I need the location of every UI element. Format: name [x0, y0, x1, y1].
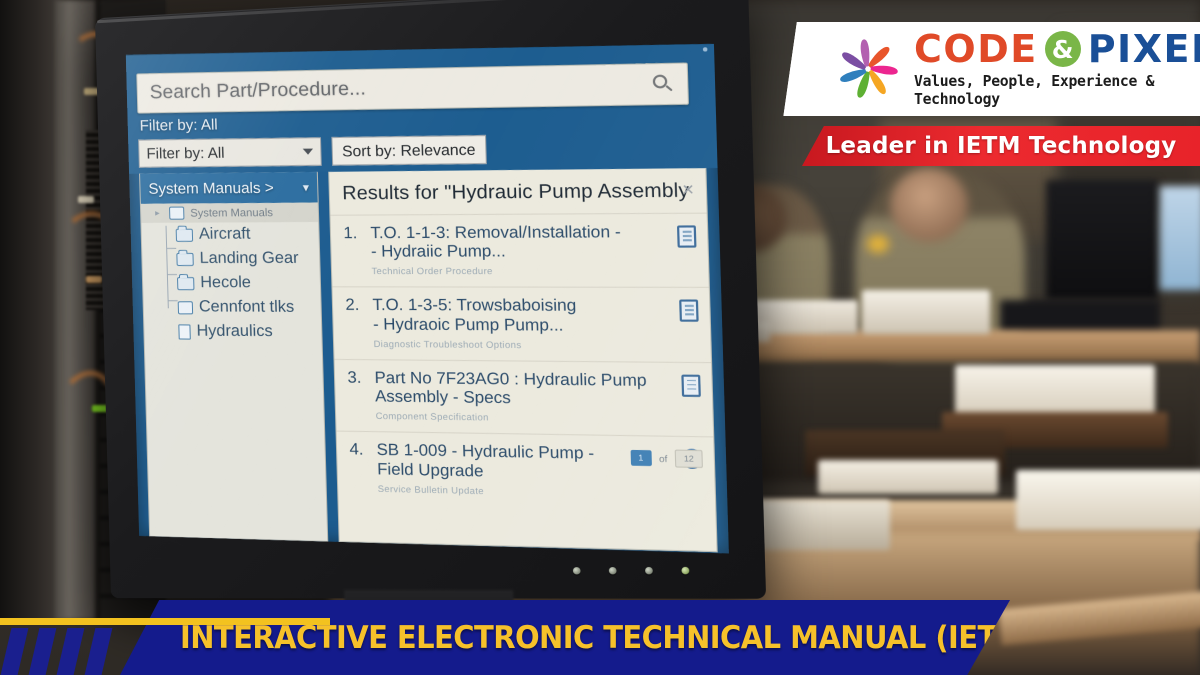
- open-book-foreground: [1016, 470, 1200, 530]
- tree-item-label: System Manuals: [190, 206, 273, 219]
- brand-pixels-text: PIXELS: [1088, 30, 1200, 68]
- result-line-2: Field Upgrade: [377, 461, 484, 481]
- result-line-1: SB 1-009 - Hydraulic Pump -: [376, 442, 594, 463]
- background-keyboard: [1000, 300, 1160, 334]
- tree-item-system-manuals[interactable]: ▸ System Manuals: [141, 203, 318, 223]
- folder-icon: [177, 277, 194, 290]
- tree-item-aircraft[interactable]: Aircraft: [141, 222, 318, 247]
- leader-ribbon: Leader in IETM Technology: [802, 126, 1200, 166]
- result-subtitle: Service Bulletin Update: [378, 483, 674, 500]
- computer-monitor: Search Part/Procedure... Filter by: All …: [95, 0, 766, 599]
- uniform-shoulder-patch: [867, 235, 889, 253]
- results-heading-text: Results for "Hydrauic Pump Assembly: [342, 180, 689, 205]
- document-icon[interactable]: [677, 225, 697, 247]
- pagination-current[interactable]: 1: [630, 450, 651, 466]
- result-text: SB 1-009 - Hydraulic Pump - Field Upgrad…: [376, 442, 673, 500]
- tree-guide-stub: [168, 300, 178, 301]
- document-icon: [178, 324, 191, 339]
- result-line-1: T.O. 1-1-3: Removal/Installation -: [370, 224, 621, 243]
- brand-logo-badge: CODE & PIXELS Values, People, Experience…: [783, 22, 1200, 116]
- monitor-screen: Search Part/Procedure... Filter by: All …: [126, 44, 729, 554]
- brand-wordmark: CODE & PIXELS Values, People, Experience…: [914, 30, 1200, 108]
- filter-by-select[interactable]: Filter by: All: [138, 137, 322, 168]
- monitor-power-led[interactable]: [681, 566, 689, 573]
- result-text: T.O. 1-1-3: Removal/Installation - - Hyd…: [370, 223, 669, 276]
- result-row[interactable]: 1. T.O. 1-1-3: Removal/Installation - - …: [330, 213, 708, 288]
- result-subtitle: Diagnostic Troubleshoot Options: [374, 339, 672, 351]
- search-placeholder: Search Part/Procedure...: [150, 73, 653, 105]
- close-icon[interactable]: ✕: [681, 181, 695, 199]
- sort-by-label: Sort by: Relevance: [342, 141, 476, 160]
- tree-header-label: System Manuals >: [148, 179, 274, 197]
- tree-item-label: Cennfont tlks: [199, 298, 295, 317]
- brand-ampersand: &: [1045, 31, 1081, 67]
- paper-stack: [818, 460, 998, 494]
- stripe: [1, 628, 29, 675]
- expander-icon[interactable]: ▸: [155, 208, 163, 219]
- document-icon[interactable]: [679, 300, 699, 322]
- tree-item-label: Hydraulics: [196, 322, 272, 341]
- brand-code-text: CODE: [914, 30, 1038, 68]
- open-book: [862, 290, 990, 334]
- tree-header[interactable]: System Manuals > ▾: [140, 172, 318, 204]
- tree-item-label: Landing Gear: [199, 250, 298, 268]
- pagination-separator: of: [659, 453, 668, 464]
- result-row[interactable]: 2. T.O. 1-3-5: Trowsbaboising - Hydraoic…: [332, 287, 711, 362]
- brand-name-row: CODE & PIXELS: [914, 30, 1200, 68]
- result-text: T.O. 1-3-5: Trowsbaboising - Hydraoic Pu…: [372, 297, 671, 351]
- app-toolbar: Search Part/Procedure... Filter by: All …: [126, 44, 718, 174]
- tree-item-cennfont-tlks[interactable]: Cennfont tlks: [143, 295, 321, 320]
- ietm-application: Search Part/Procedure... Filter by: All …: [126, 44, 729, 553]
- monitor-plus-button[interactable]: [645, 566, 653, 573]
- monitor-control-panel: [140, 556, 730, 584]
- filter-by-value: Filter by: All: [146, 144, 225, 162]
- filter-caption-label: Filter by: All: [139, 116, 217, 134]
- stripe: [29, 628, 57, 675]
- monitor-menu-button[interactable]: [573, 567, 581, 574]
- result-row[interactable]: 3. Part No 7F23AG0 : Hydraulic Pump Asse…: [335, 359, 714, 437]
- search-icon[interactable]: [652, 73, 675, 94]
- result-index: 3.: [347, 369, 366, 388]
- navigation-tree-panel: System Manuals > ▾ ▸ System Manuals: [139, 172, 328, 542]
- tree-item-label: Aircraft: [199, 225, 251, 243]
- tree-item-hydraulics[interactable]: Hydraulics: [144, 319, 322, 344]
- stripe: [85, 628, 113, 675]
- monitor-minus-button[interactable]: [609, 566, 617, 573]
- result-index: 1.: [343, 225, 362, 244]
- sort-by-button[interactable]: Sort by: Relevance: [331, 135, 486, 166]
- rack-status-led: [86, 276, 102, 283]
- background-monitor: [1046, 180, 1158, 300]
- filter-controls-row: Filter by: All Sort by: Relevance: [138, 135, 486, 168]
- chevron-down-icon: [303, 149, 313, 155]
- background-monitor-screen: [1160, 186, 1200, 290]
- search-input[interactable]: Search Part/Procedure...: [136, 62, 689, 113]
- results-pagination: 1 of 12: [630, 449, 703, 468]
- blue-stripe-decoration: [0, 628, 145, 675]
- result-row[interactable]: 4. SB 1-009 - Hydraulic Pump - Field Upg…: [337, 431, 716, 512]
- collapse-icon[interactable]: ▾: [303, 180, 310, 194]
- tree-guide-stub: [167, 274, 177, 275]
- rack-status-led: [78, 196, 94, 203]
- tree-item-label: Hecole: [200, 274, 251, 292]
- pinwheel-logo-icon: [835, 38, 901, 100]
- results-heading: Results for "Hydrauic Pump Assembly ✕: [329, 168, 706, 215]
- stripe: [57, 628, 85, 675]
- leader-ribbon-text: Leader in IETM Technology: [826, 133, 1177, 159]
- result-line-2: Assembly - Specs: [375, 388, 511, 407]
- result-line-2: - Hydraiic Pump...: [371, 243, 506, 261]
- bottom-title-banner: INTERACTIVE ELECTRONIC TECHNICAL MANUAL …: [120, 600, 1010, 675]
- grid-icon: [169, 207, 184, 220]
- result-subtitle: Component Specification: [376, 411, 674, 426]
- result-index: 4.: [349, 441, 368, 460]
- folder-icon: [176, 228, 193, 241]
- folder-icon: [176, 252, 193, 265]
- tree-item-landing-gear[interactable]: Landing Gear: [142, 247, 320, 272]
- document-icon[interactable]: [681, 375, 701, 397]
- status-dot: [703, 47, 708, 51]
- pagination-total[interactable]: 12: [675, 450, 703, 468]
- result-line-1: T.O. 1-3-5: Trowsbaboising: [372, 297, 576, 315]
- scene-background: Search Part/Procedure... Filter by: All …: [0, 0, 1200, 675]
- result-line-2: - Hydraoic Pump Pump...: [373, 316, 564, 335]
- result-line-1: Part No 7F23AG0 : Hydraulic Pump: [374, 370, 647, 390]
- result-subtitle: Technical Order Procedure: [371, 266, 669, 277]
- search-results-panel: Results for "Hydrauic Pump Assembly ✕ 1.…: [328, 168, 718, 552]
- person-head-right: [890, 168, 968, 242]
- result-index: 2.: [345, 297, 364, 316]
- tree-guide-stub: [166, 248, 176, 249]
- grid-icon: [178, 301, 193, 314]
- result-text: Part No 7F23AG0 : Hydraulic Pump Assembl…: [374, 370, 674, 426]
- brand-tagline: Values, People, Experience & Technology: [914, 72, 1200, 108]
- yellow-accent-rule: [0, 618, 330, 625]
